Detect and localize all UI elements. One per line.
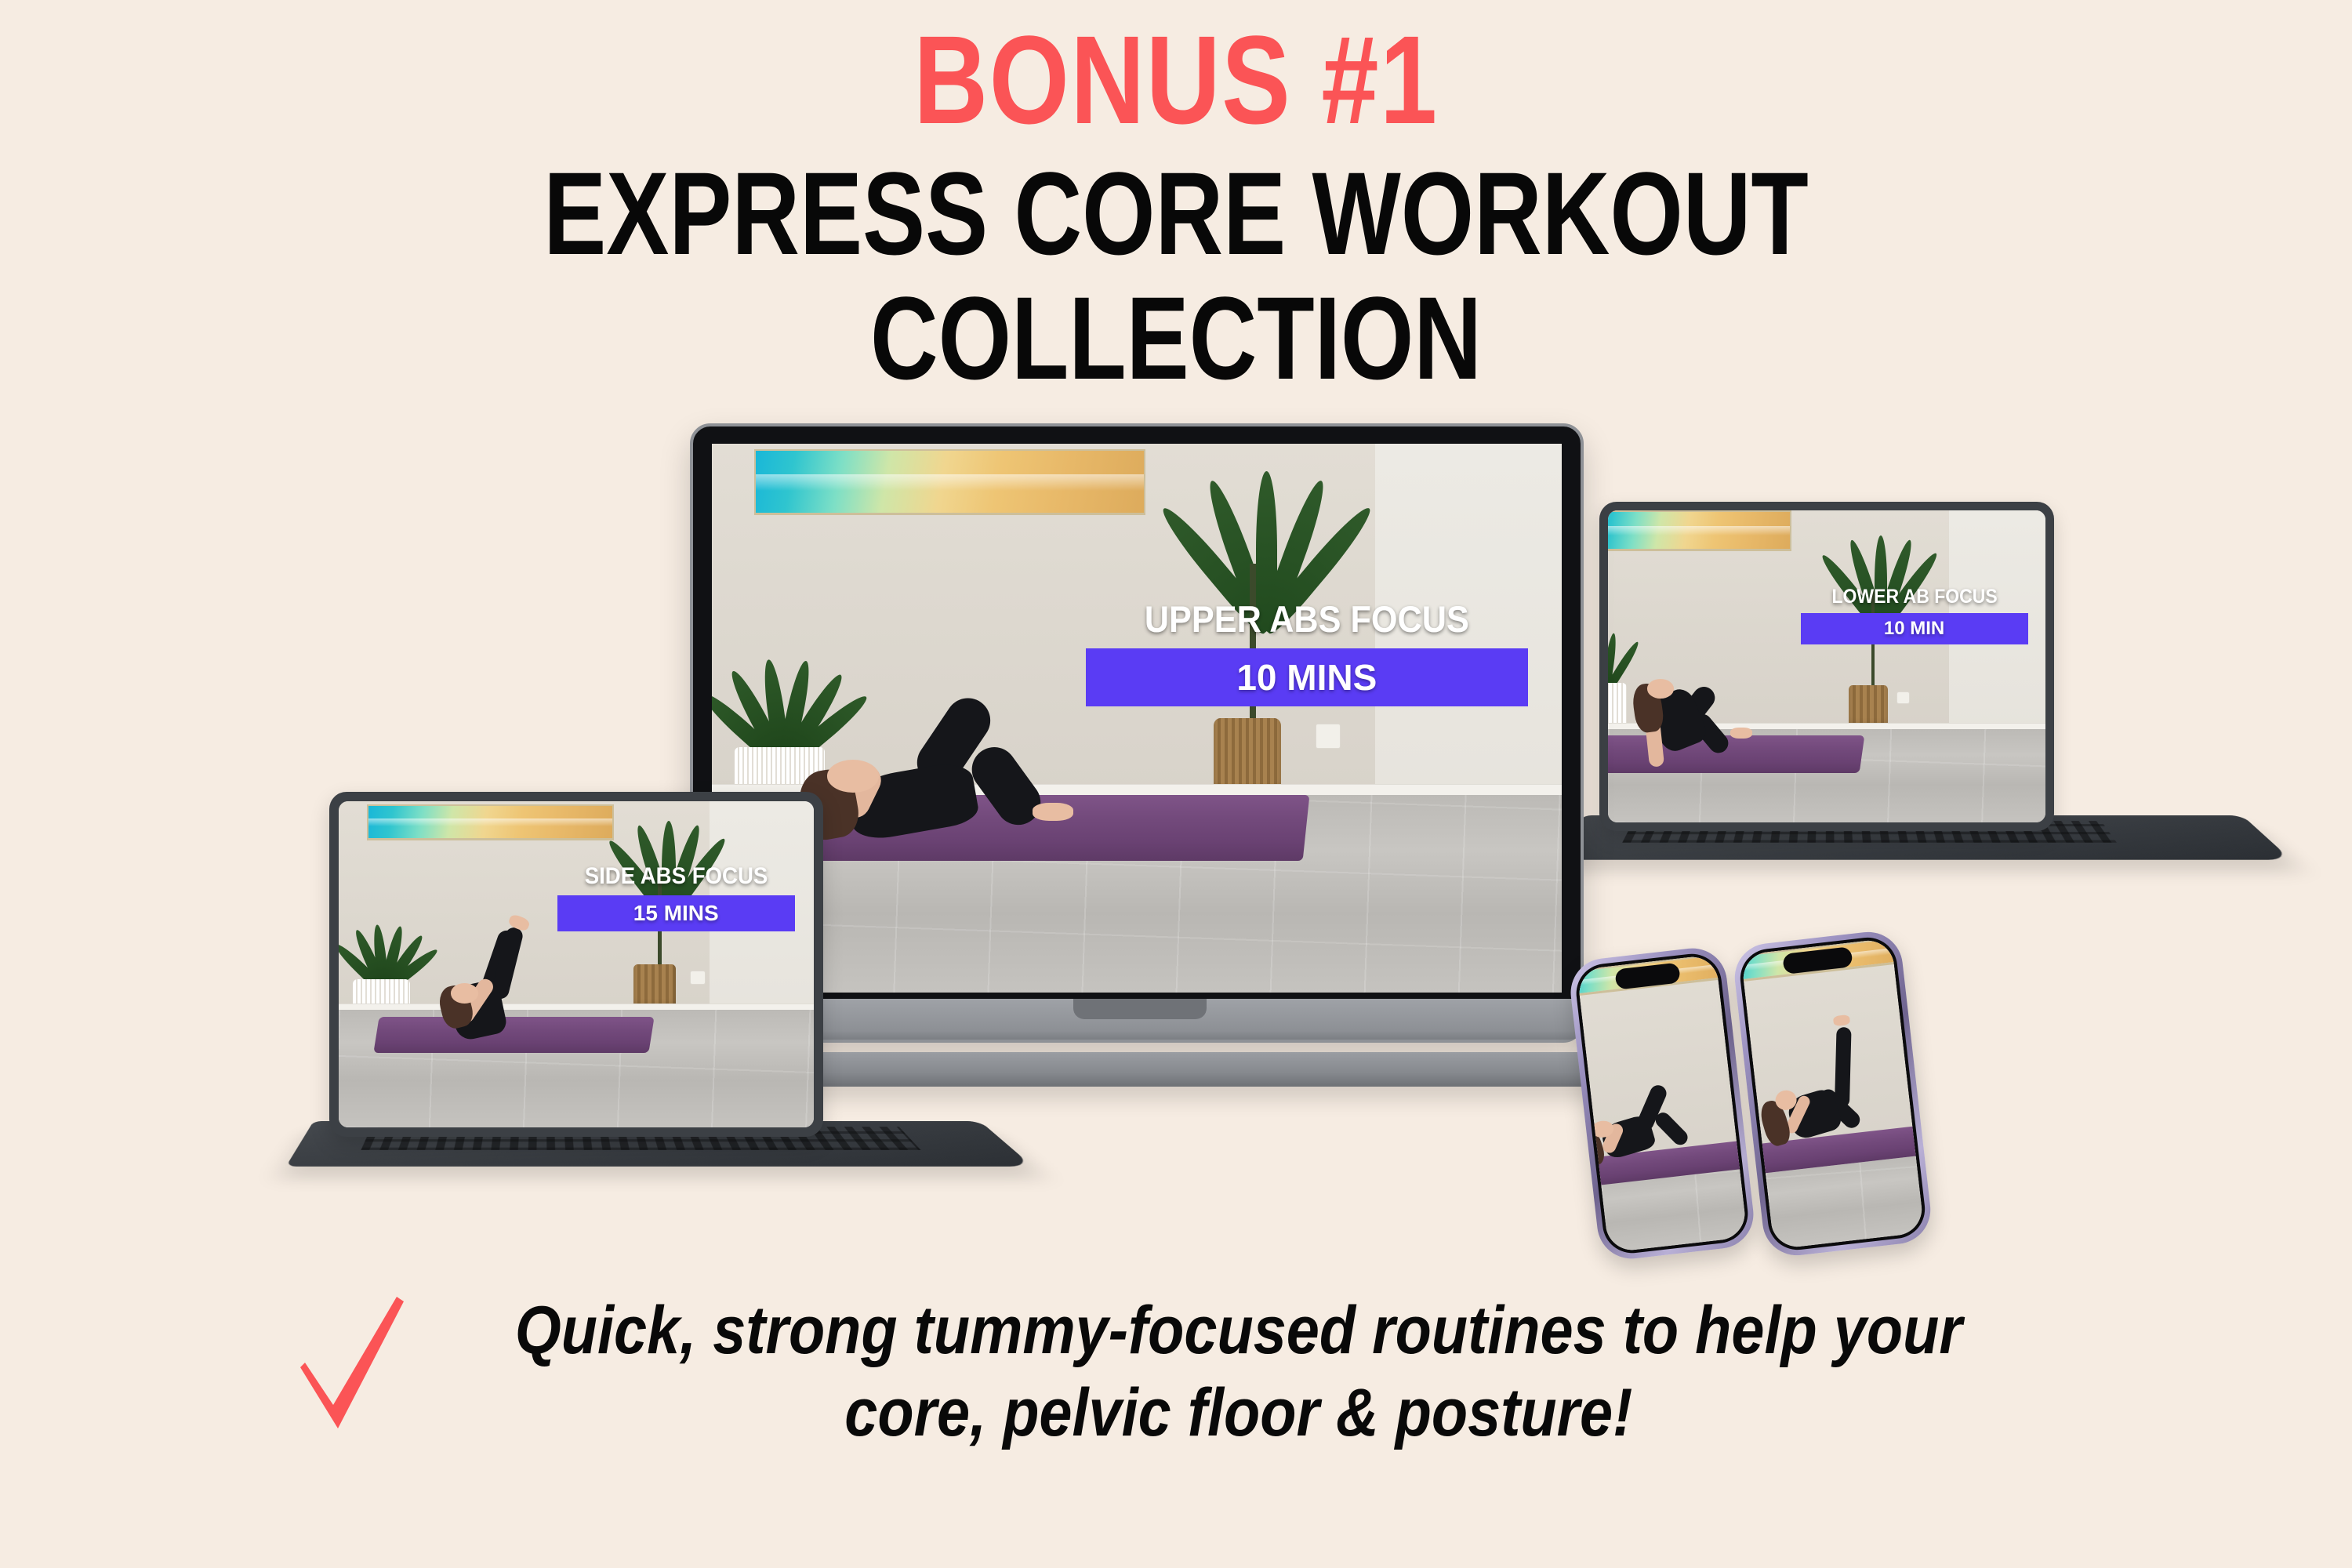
plant-leaves <box>343 883 419 991</box>
laptop-device-side-abs[interactable]: SIDE ABS FOCUS 15 MINS <box>314 792 1019 1215</box>
laptop-screen: LOWER AB FOCUS 10 MIN <box>1608 510 2045 822</box>
check-mark-icon <box>291 1294 408 1436</box>
light-switch <box>1316 724 1341 749</box>
phone-device-2[interactable] <box>1731 928 1934 1259</box>
laptop-screen: SIDE ABS FOCUS 15 MINS <box>339 801 814 1127</box>
person-exercising <box>1744 1015 1910 1174</box>
overlay-duration-badge: 10 MINS <box>1086 648 1528 706</box>
title-line-2: COLLECTION <box>235 278 2117 398</box>
laptop-lid: SIDE ABS FOCUS 15 MINS <box>329 792 823 1137</box>
tagline-line-1: Quick, strong tummy-focused routines to … <box>515 1290 1962 1372</box>
phone-screen <box>1740 938 1925 1249</box>
ocean-artwork <box>754 449 1145 515</box>
ocean-artwork <box>367 804 614 840</box>
screen-overlay-side-abs: SIDE ABS FOCUS 15 MINS <box>557 863 795 931</box>
overlay-title: LOWER AB FOCUS <box>1809 586 2019 608</box>
phone-device-1[interactable] <box>1567 945 1757 1262</box>
overlay-title: UPPER ABS FOCUS <box>1104 597 1511 641</box>
phone-bezel <box>1573 951 1751 1257</box>
light-switch <box>1896 691 1910 704</box>
laptop-hinge-notch <box>1073 999 1207 1019</box>
tagline-block: Quick, strong tummy-focused routines to … <box>0 1290 2352 1454</box>
overlay-duration-badge: 15 MINS <box>557 895 795 931</box>
screen-overlay-lower-ab: LOWER AB FOCUS 10 MIN <box>1801 586 2028 644</box>
person-exercising <box>1577 1080 1721 1181</box>
screen-overlay-upper-abs: UPPER ABS FOCUS 10 MINS <box>1086 597 1528 706</box>
title-line-1: EXPRESS CORE WORKOUT <box>235 154 2117 274</box>
phone-bezel <box>1737 935 1928 1253</box>
overlay-duration-badge: 10 MIN <box>1801 613 2028 644</box>
person-exercising <box>434 931 604 1049</box>
tagline-text: Quick, strong tummy-focused routines to … <box>515 1290 1962 1454</box>
workout-scene <box>339 801 814 1127</box>
laptop-device-lower-ab[interactable]: LOWER AB FOCUS 10 MIN <box>1599 502 2305 909</box>
ocean-artwork <box>1608 510 1791 551</box>
phone-screen <box>1577 954 1748 1253</box>
headline-block: BONUS #1 EXPRESS CORE WORKOUT COLLECTION <box>0 0 2352 398</box>
light-switch <box>690 971 705 984</box>
bonus-heading: BONUS #1 <box>212 0 2140 143</box>
workout-scene <box>1740 938 1925 1249</box>
overlay-title: SIDE ABS FOCUS <box>567 863 786 890</box>
tagline-line-2: core, pelvic floor & posture! <box>515 1372 1962 1454</box>
workout-scene <box>1608 510 2045 822</box>
workout-scene <box>1577 954 1748 1253</box>
laptop-lid: LOWER AB FOCUS 10 MIN <box>1599 502 2054 831</box>
person-exercising <box>1634 666 1800 772</box>
